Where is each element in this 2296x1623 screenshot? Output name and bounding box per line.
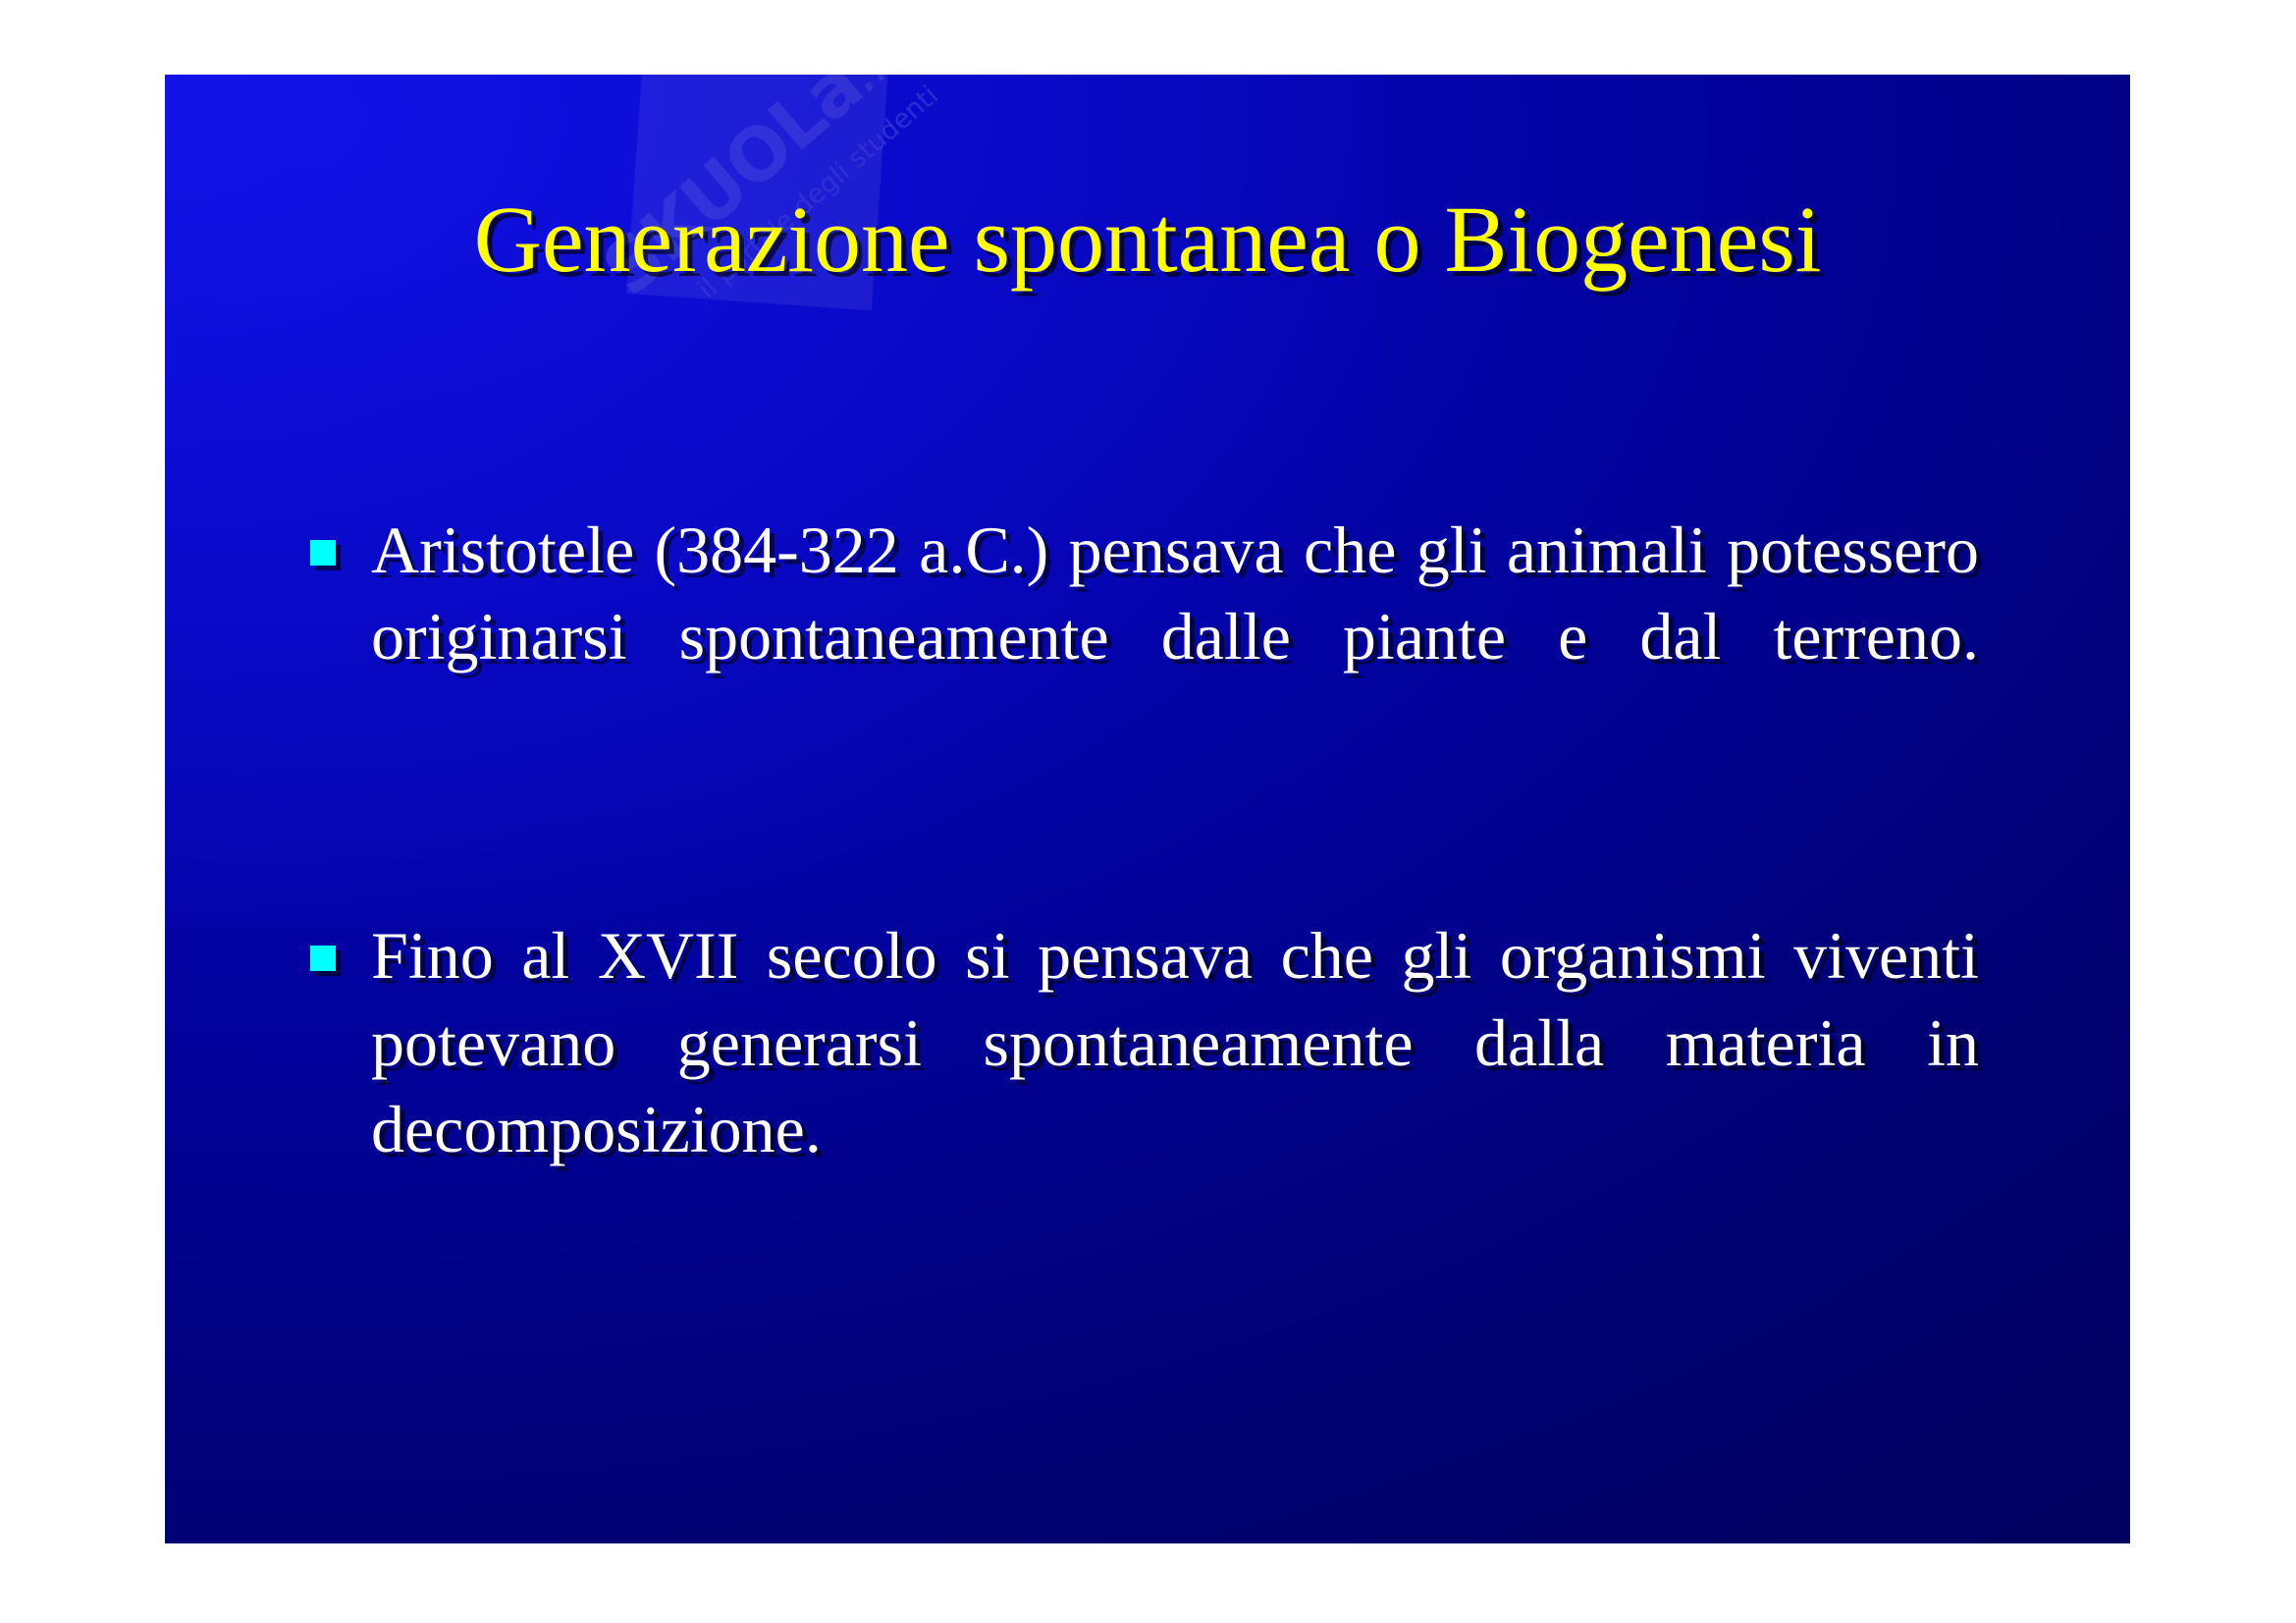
bullet-text: Aristotele (384-322 a.C.) pensava che gl… <box>371 507 1979 767</box>
bullet-item: Fino al XVII secolo si pensava che gli o… <box>310 912 1979 1260</box>
presentation-slide: SKUOLa.net il portale degli studenti Gen… <box>165 75 2130 1543</box>
slide-body: Aristotele (384-322 a.C.) pensava che gl… <box>310 507 1979 1260</box>
square-bullet-icon <box>310 540 336 566</box>
square-bullet-icon <box>310 946 336 971</box>
slide-title: Generazione spontanea o Biogenesi <box>165 190 2130 290</box>
bullet-text: Fino al XVII secolo si pensava che gli o… <box>371 912 1979 1260</box>
bullet-item: Aristotele (384-322 a.C.) pensava che gl… <box>310 507 1979 767</box>
watermark-brand-suffix: .net <box>828 75 960 105</box>
